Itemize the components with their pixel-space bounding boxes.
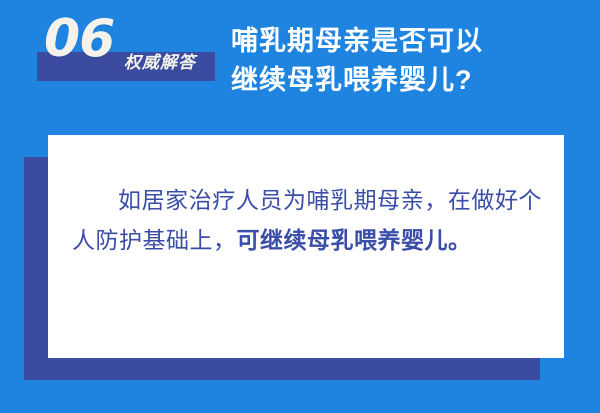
answer-card: 如居家治疗人员为哺乳期母亲，在做好个人防护基础上，可继续母乳喂养婴儿。 [48, 135, 564, 358]
page-title: 哺乳期母亲是否可以 继续母乳喂养婴儿? [231, 22, 591, 100]
page-title-line-1: 哺乳期母亲是否可以 [231, 22, 591, 61]
badge-label: 权威解答 [124, 55, 196, 72]
page-title-line-2: 继续母乳喂养婴儿? [231, 61, 591, 100]
answer-body-emphasis: 可继续母乳喂养婴儿。 [237, 227, 472, 253]
poster-root: 06 权威解答 哺乳期母亲是否可以 继续母乳喂养婴儿? 如居家治疗人员为哺乳期母… [0, 0, 600, 413]
badge-number: 06 [44, 13, 114, 65]
header-section: 06 权威解答 哺乳期母亲是否可以 继续母乳喂养婴儿? [0, 0, 600, 120]
answer-body-text: 如居家治疗人员为哺乳期母亲，在做好个人防护基础上，可继续母乳喂养婴儿。 [72, 181, 542, 260]
